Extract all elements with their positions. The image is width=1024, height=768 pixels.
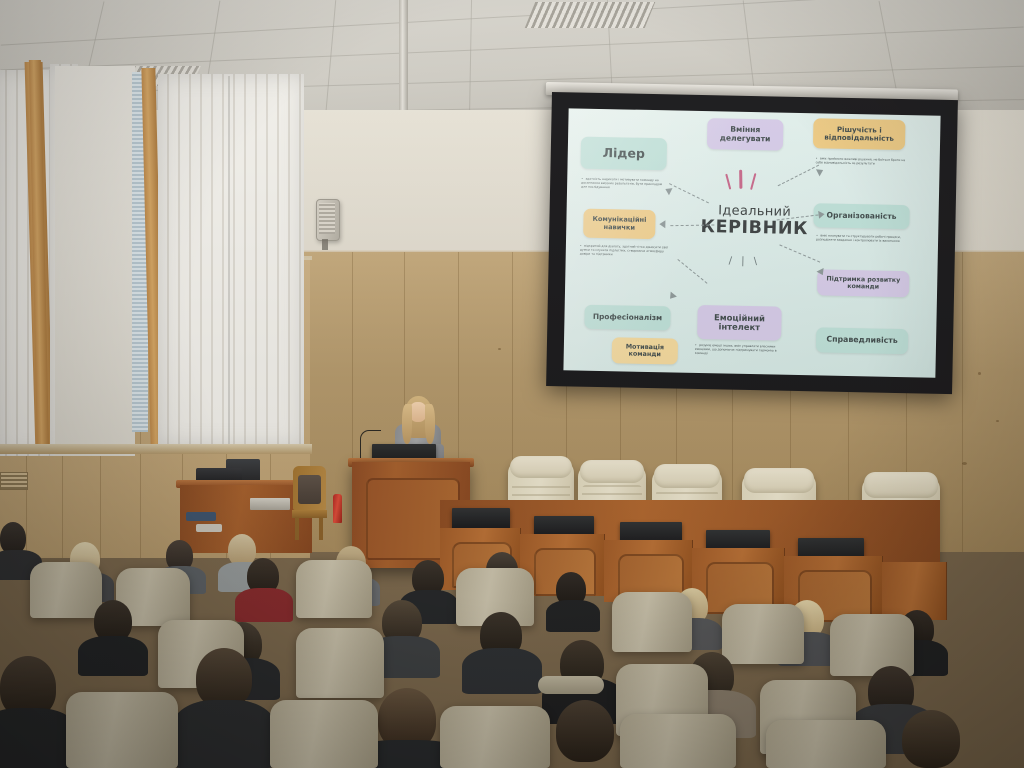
photo-scene: Лідер Вміння делегувати Рішучість і відп… bbox=[0, 0, 1024, 768]
slide-box-emotional-intelligence: Емоційний інтелект bbox=[697, 305, 782, 341]
projection-screen-surface: Лідер Вміння делегувати Рішучість і відп… bbox=[563, 108, 940, 377]
audience-seat[interactable] bbox=[296, 560, 372, 618]
slide-bullet-emotional-intelligence: розуміє емоції інших, вміє управляти вла… bbox=[695, 343, 789, 357]
slide-box-motivation: Мотивація команди bbox=[612, 337, 679, 364]
slide-center-title-line2: КЕРІВНИК bbox=[684, 217, 824, 240]
window-wall-pillar bbox=[55, 66, 135, 456]
connector-to-team-development bbox=[779, 244, 820, 262]
slide-box-delegation: Вміння делегувати bbox=[707, 118, 784, 151]
slide-box-team-development-label: Підтримка розвитку команди bbox=[826, 275, 900, 291]
audience-shoulders bbox=[172, 700, 276, 768]
slide-bullet-emotional-intelligence-text: розуміє емоції інших, вміє управляти вла… bbox=[695, 343, 777, 355]
presidium-chair-headrest bbox=[864, 472, 938, 498]
arrowhead-communication bbox=[659, 220, 665, 228]
arrowhead-professionalism bbox=[667, 292, 677, 302]
slide-bullet-communication: відкритий для діалогу, здатний чітко дон… bbox=[580, 244, 672, 258]
slide-box-organization: Організованість bbox=[813, 203, 909, 229]
slide-bullet-leader: здатність надихати і мотивувати команду … bbox=[581, 177, 667, 191]
slide-box-team-development: Підтримка розвитку команди bbox=[817, 269, 910, 297]
ceiling-vent-grille bbox=[525, 2, 656, 28]
connector-to-professionalism bbox=[677, 259, 707, 284]
connector-to-decisiveness bbox=[778, 165, 819, 187]
slide-bullet-communication-text: відкритий для діалогу, здатний чітко дон… bbox=[580, 244, 668, 257]
side-desk-laptop bbox=[250, 498, 290, 510]
audience-shoulders bbox=[78, 636, 148, 676]
projection-screen-frame: Лідер Вміння делегувати Рішучість і відп… bbox=[546, 92, 958, 394]
slide-box-leader-label: Лідер bbox=[603, 146, 645, 161]
slide-bullet-organization-text: вміє планувати та структурувати робочі п… bbox=[816, 233, 901, 243]
wooden-chair-leg-right bbox=[319, 517, 323, 540]
side-desk-folder bbox=[186, 512, 216, 521]
slide-box-decisiveness: Рішучість і відповідальність bbox=[813, 118, 906, 150]
presidium-monitor bbox=[452, 508, 510, 530]
audience-seat[interactable] bbox=[620, 714, 736, 768]
audience-seat-armrest bbox=[538, 676, 604, 694]
audience-head bbox=[556, 700, 614, 762]
audience-shoulders bbox=[235, 588, 293, 622]
speaker-mesh bbox=[319, 203, 335, 234]
slide-box-motivation-label: Мотивація команди bbox=[626, 343, 665, 358]
audience-seat[interactable] bbox=[270, 700, 378, 768]
slide-box-leader: Лідер bbox=[580, 137, 667, 171]
side-desk-paper bbox=[196, 524, 222, 532]
slide-bullet-leader-text: здатність надихати і мотивувати команду … bbox=[581, 177, 662, 190]
audience-head bbox=[902, 710, 960, 768]
vertical-blinds-panel-right[interactable] bbox=[158, 74, 304, 446]
audience-seat[interactable] bbox=[766, 720, 886, 768]
wooden-chair bbox=[291, 466, 328, 540]
presenter-hair-right bbox=[425, 404, 435, 444]
audience-seat[interactable] bbox=[296, 628, 384, 698]
slide-box-communication: Комунікаційні навички bbox=[583, 209, 656, 239]
presidium-chair-headrest bbox=[580, 460, 644, 483]
slide-box-fairness-label: Справедливість bbox=[826, 336, 897, 346]
presenter-hair-left bbox=[402, 404, 412, 444]
slide-box-delegation-label: Вміння делегувати bbox=[720, 125, 771, 143]
slide-center-title: Ідеальний КЕРІВНИК bbox=[684, 203, 825, 240]
audience-shoulders bbox=[546, 600, 600, 632]
audience-seat[interactable] bbox=[440, 706, 550, 768]
presidium-chair-headrest bbox=[510, 456, 572, 478]
slide-bullet-decisiveness: вміє приймати важливі рішення, не боїтьс… bbox=[816, 156, 908, 166]
slide-bullet-decisiveness-text: вміє приймати важливі рішення, не боїтьс… bbox=[816, 156, 906, 165]
slide-box-professionalism-label: Професіоналізм bbox=[593, 313, 662, 323]
slide-box-organization-label: Організованість bbox=[827, 211, 897, 221]
slide-box-communication-label: Комунікаційні навички bbox=[592, 216, 646, 232]
slide-center-underline: / | \ bbox=[729, 256, 761, 268]
window-sill bbox=[0, 444, 312, 454]
audience-seat[interactable] bbox=[66, 692, 178, 768]
presidium-chair-headrest bbox=[744, 468, 814, 493]
fire-extinguisher bbox=[333, 494, 342, 523]
presidium-chair-headrest bbox=[654, 464, 720, 488]
sparkle-left bbox=[725, 174, 731, 190]
window-wall-left bbox=[0, 60, 300, 310]
slide-bullet-organization: вміє планувати та структурувати робочі п… bbox=[816, 233, 908, 243]
arrowhead-organization bbox=[818, 210, 825, 219]
wooden-chair-leg-left bbox=[295, 517, 299, 540]
slide-box-emotional-intelligence-label: Емоційний інтелект bbox=[714, 313, 765, 333]
slide-box-decisiveness-label: Рішучість і відповідальність bbox=[824, 126, 894, 143]
audience-seat[interactable] bbox=[722, 604, 804, 664]
sparkle-center bbox=[739, 170, 742, 189]
sparkle-right bbox=[750, 173, 757, 190]
slide-box-professionalism: Професіоналізм bbox=[584, 305, 670, 331]
audience-shoulders bbox=[462, 648, 542, 694]
audience-seat[interactable] bbox=[830, 614, 914, 676]
wooden-chair-upholstery bbox=[298, 475, 321, 504]
connector-to-leader bbox=[669, 183, 709, 203]
audience-seat[interactable] bbox=[30, 562, 102, 618]
arrowhead-decisiveness bbox=[816, 166, 825, 176]
wall-vent-grille-corner bbox=[0, 472, 28, 490]
audience-seat[interactable] bbox=[612, 592, 692, 652]
slide-box-fairness: Справедливість bbox=[816, 327, 908, 354]
blind-slat-seam bbox=[228, 76, 230, 444]
arrowhead-leader bbox=[664, 185, 673, 195]
audience-head bbox=[196, 648, 252, 708]
